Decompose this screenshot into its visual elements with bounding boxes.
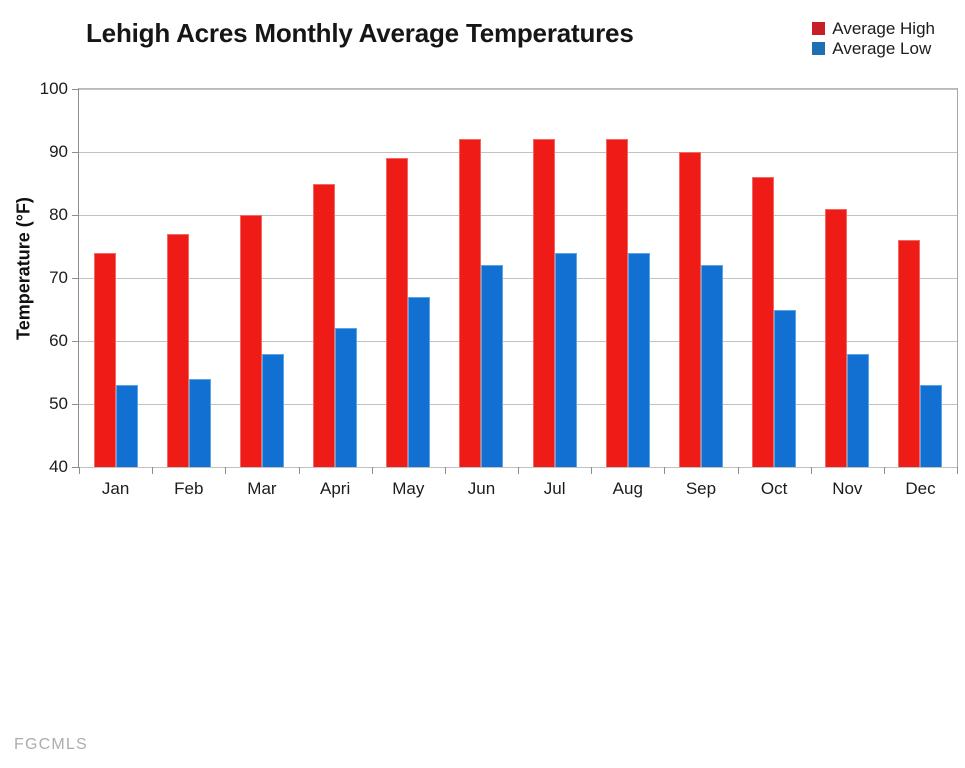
x-tick-label: Mar [225,479,298,499]
y-tick-label: 100 [40,79,68,99]
x-tick-label: Jul [518,479,591,499]
x-tick-label: Nov [811,479,884,499]
bar-low[interactable] [262,354,284,467]
bar-high[interactable] [898,240,920,467]
legend-label: Average Low [832,40,931,57]
bar-low[interactable] [555,253,577,467]
bar-low[interactable] [920,385,942,467]
bar-high[interactable] [459,139,481,467]
bar-low[interactable] [408,297,430,467]
y-tick-label: 60 [49,331,68,351]
x-tick-mark [957,467,958,474]
bar-group: Sep [664,89,737,467]
y-tick-mark [72,278,79,279]
x-tick-mark [445,467,446,474]
x-tick-label: Sep [664,479,737,499]
chart-title: Lehigh Acres Monthly Average Temperature… [86,18,736,49]
bar-group: Mar [225,89,298,467]
bar-low[interactable] [189,379,211,467]
bar-low[interactable] [481,265,503,467]
x-tick-mark [299,467,300,474]
bar-low[interactable] [628,253,650,467]
x-tick-mark [79,467,80,474]
x-tick-mark [811,467,812,474]
bar-high[interactable] [313,184,335,468]
bar-group: May [372,89,445,467]
bar-group: Nov [811,89,884,467]
x-tick-label: Oct [738,479,811,499]
x-tick-label: Apri [299,479,372,499]
legend-item-average-high[interactable]: Average High [812,20,935,37]
bar-low[interactable] [774,310,796,468]
x-tick-label: May [372,479,445,499]
legend-swatch-icon [812,22,825,35]
x-tick-label: Feb [152,479,225,499]
y-tick-label: 90 [49,142,68,162]
x-tick-mark [518,467,519,474]
bar-low[interactable] [335,328,357,467]
bar-group: Oct [738,89,811,467]
bar-group: Jun [445,89,518,467]
y-tick-label: 70 [49,268,68,288]
y-tick-mark [72,467,79,468]
bar-low[interactable] [116,385,138,467]
bar-high[interactable] [240,215,262,467]
x-tick-mark [152,467,153,474]
legend-swatch-icon [812,42,825,55]
bar-low[interactable] [847,354,869,467]
x-tick-label: Jun [445,479,518,499]
y-tick-label: 80 [49,205,68,225]
bar-group: Jan [79,89,152,467]
y-tick-label: 50 [49,394,68,414]
watermark: FGCMLS [14,736,88,754]
bar-groups: JanFebMarApriMayJunJulAugSepOctNovDec [79,89,957,467]
x-tick-mark [591,467,592,474]
y-tick-label: 40 [49,457,68,477]
chart-legend: Average HighAverage Low [812,20,935,57]
legend-item-average-low[interactable]: Average Low [812,40,931,57]
bar-group: Aug [591,89,664,467]
x-tick-label: Aug [591,479,664,499]
bar-high[interactable] [679,152,701,467]
bar-high[interactable] [94,253,116,467]
legend-label: Average High [832,20,935,37]
x-tick-label: Dec [884,479,957,499]
x-tick-mark [225,467,226,474]
plot-area: 100908070605040 JanFebMarApriMayJunJulAu… [78,88,958,468]
bar-group: Jul [518,89,591,467]
y-tick-mark [72,215,79,216]
y-tick-mark [72,89,79,90]
bar-group: Feb [152,89,225,467]
y-tick-mark [72,341,79,342]
bar-high[interactable] [825,209,847,467]
bar-high[interactable] [606,139,628,467]
x-tick-mark [664,467,665,474]
y-tick-mark [72,404,79,405]
bar-group: Dec [884,89,957,467]
bar-high[interactable] [167,234,189,467]
x-tick-label: Jan [79,479,152,499]
bar-high[interactable] [752,177,774,467]
x-tick-mark [372,467,373,474]
x-tick-mark [738,467,739,474]
bar-low[interactable] [701,265,723,467]
y-axis-title: Temperature (°F) [14,159,35,379]
bar-group: Apri [299,89,372,467]
bar-high[interactable] [386,158,408,467]
bar-high[interactable] [533,139,555,467]
y-tick-mark [72,152,79,153]
x-tick-mark [884,467,885,474]
